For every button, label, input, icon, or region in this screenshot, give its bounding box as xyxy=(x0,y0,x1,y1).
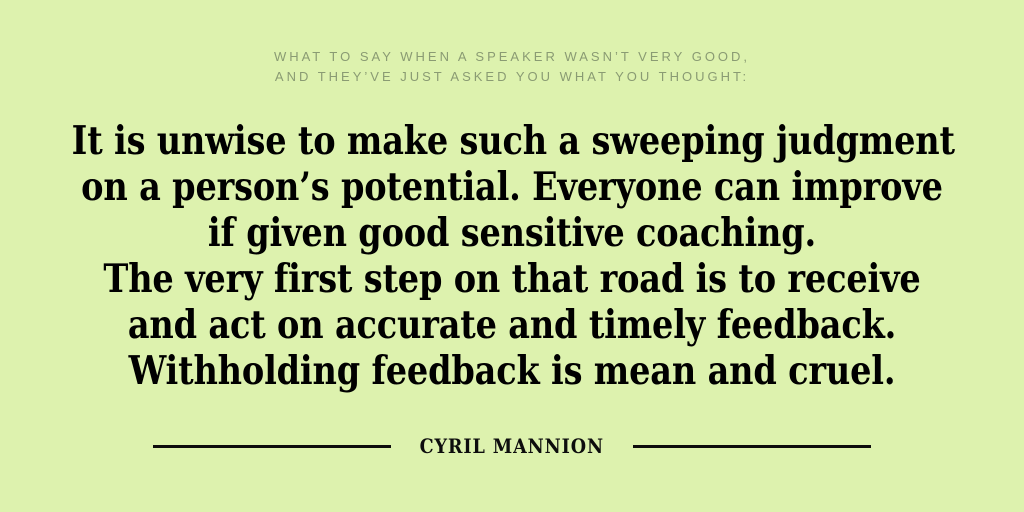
quote-line: on a person’s potential. Everyone can im… xyxy=(72,164,953,210)
quote-line: and act on accurate and timely feedback. xyxy=(72,302,953,348)
attribution-name: CYRIL MANNION xyxy=(406,436,619,456)
quote-line: if given good sensitive coaching. xyxy=(72,210,953,256)
kicker-line-2: and they’ve just asked you what you thou… xyxy=(0,67,1024,87)
quote-line: Withholding feedback is mean and cruel. xyxy=(72,348,953,394)
divider-rule-left xyxy=(153,445,391,448)
kicker-line-1: What to say when a speaker wasn’t very g… xyxy=(0,47,1024,67)
kicker-text: What to say when a speaker wasn’t very g… xyxy=(0,47,1024,87)
quote-text: It is unwise to make such a sweeping jud… xyxy=(72,118,953,394)
quote-line: The very first step on that road is to r… xyxy=(72,256,953,302)
divider-rule-right xyxy=(633,445,871,448)
quote-line: It is unwise to make such a sweeping jud… xyxy=(72,118,953,164)
attribution: CYRIL MANNION xyxy=(0,429,1024,463)
quote-card: What to say when a speaker wasn’t very g… xyxy=(0,0,1024,512)
